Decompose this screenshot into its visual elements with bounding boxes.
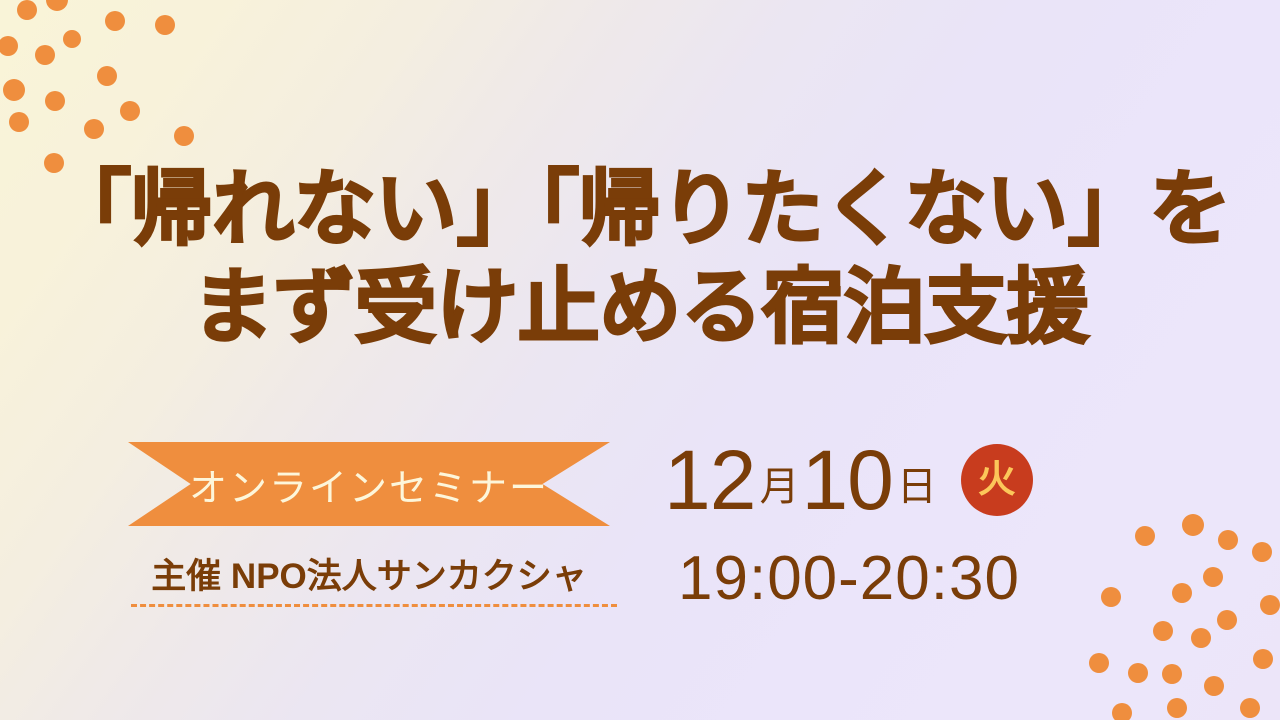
title-line-2: まず受け止める宿泊支援 (0, 266, 1280, 350)
online-seminar-ribbon: オンラインセミナー (128, 442, 610, 526)
event-date: 12 月 10 日 火 (664, 430, 1033, 530)
decorative-dot (84, 119, 104, 139)
organizer-text: 主催 NPO法人サンカクシャ (128, 548, 610, 599)
decorative-dot (1128, 663, 1148, 683)
date-day-unit: 日 (897, 467, 937, 507)
decorative-dot (105, 11, 125, 31)
decorative-dot (45, 91, 65, 111)
event-time: 19:00-20:30 (678, 543, 1020, 614)
decorative-dot (35, 45, 55, 65)
decorative-dot (3, 79, 25, 101)
decorative-dot (1217, 610, 1237, 630)
decorative-dot (63, 30, 81, 48)
decorative-dot (1167, 698, 1187, 718)
decorative-dot (1101, 587, 1121, 607)
decorative-dot (1204, 676, 1224, 696)
date-month-number: 12 (664, 438, 755, 522)
decorative-dot (9, 112, 29, 132)
title-line-1: 「帰れない」「帰りたくない」を (0, 168, 1280, 252)
weekday-label: 火 (978, 461, 1016, 499)
decorative-dot (120, 101, 140, 121)
decorative-dot (1162, 664, 1182, 684)
decorative-dot (17, 0, 37, 20)
decorative-dot (174, 126, 194, 146)
decorative-dot (1260, 595, 1280, 615)
decorative-dot (155, 15, 175, 35)
decorative-dot (1252, 542, 1272, 562)
seminar-title: 「帰れない」「帰りたくない」を まず受け止める宿泊支援 (0, 168, 1280, 351)
decorative-dot (1182, 514, 1204, 536)
decorative-dot (1191, 628, 1211, 648)
ribbon-label: オンラインセミナー (189, 457, 549, 512)
decorative-dot (1089, 653, 1109, 673)
decorative-dot (1135, 526, 1155, 546)
decorative-dot (1112, 703, 1132, 720)
weekday-badge: 火 (961, 444, 1033, 516)
dashed-divider (131, 604, 617, 607)
decorative-dot (1253, 649, 1273, 669)
decorative-dot (1240, 698, 1260, 718)
seminar-banner: 「帰れない」「帰りたくない」を まず受け止める宿泊支援 オンラインセミナー 主催… (0, 0, 1280, 720)
decorative-dot (1153, 621, 1173, 641)
decorative-dot (1172, 583, 1192, 603)
decorative-dot (1203, 567, 1223, 587)
decorative-dot (0, 36, 18, 56)
date-month-unit: 月 (759, 467, 799, 507)
decorative-dot (46, 0, 68, 11)
decorative-dot (97, 66, 117, 86)
decorative-dot (1218, 530, 1238, 550)
date-day-number: 10 (801, 438, 892, 522)
